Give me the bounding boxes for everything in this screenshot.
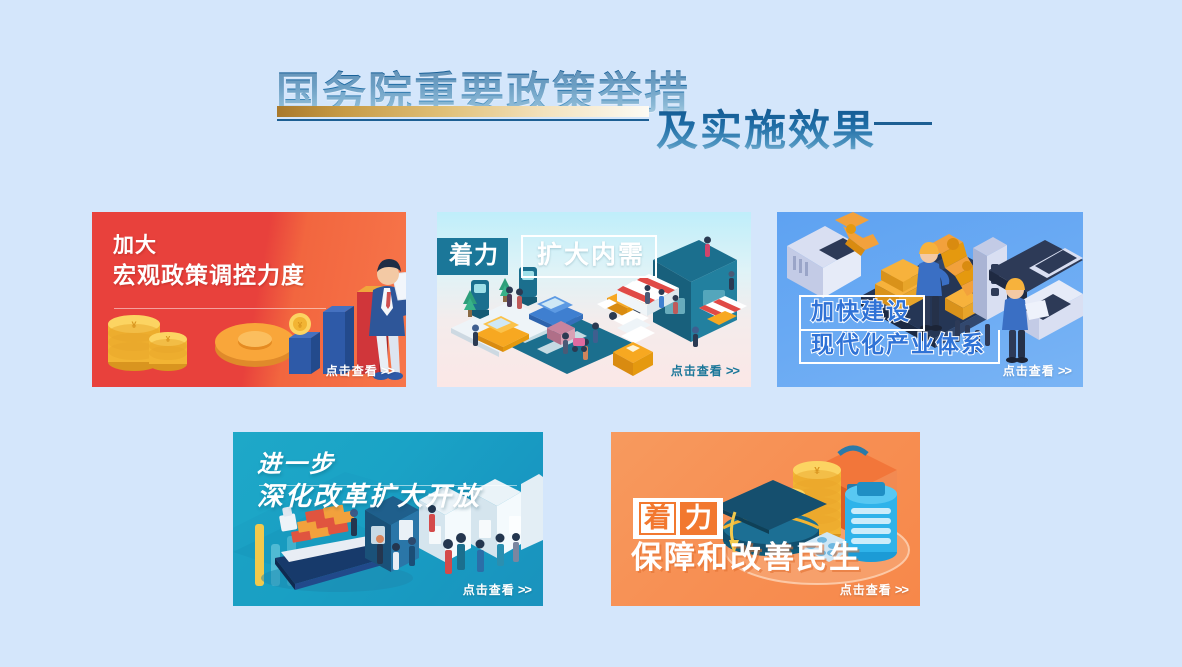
svg-text:¥: ¥: [131, 320, 136, 330]
card-modern-industry[interactable]: 加快建设 现代化产业体系 点击查看>>: [777, 212, 1083, 387]
card-industry-title-line-1: 加快建设: [811, 298, 911, 324]
card-macro-title: 加大 宏观政策调控力度: [113, 232, 305, 291]
card-demand-cta-label: 点击查看: [671, 364, 723, 378]
card-expand-demand[interactable]: 着力 扩大内需 点击查看>>: [437, 212, 751, 387]
card-livelihood-cta-label: 点击查看: [840, 583, 892, 597]
card-reform-title-rule: [259, 485, 517, 486]
title-gold-underline: [277, 106, 649, 117]
title-rule-line: [277, 119, 649, 121]
card-reform-cta[interactable]: 点击查看>>: [463, 581, 531, 598]
card-reform-title-line-1: 进一步: [257, 450, 481, 480]
card-macro-title-rule: [114, 308, 326, 309]
card-macro-policy[interactable]: ¥ ¥: [92, 212, 406, 387]
chevron-right-icon: >>: [518, 582, 531, 597]
svg-text:¥: ¥: [814, 466, 820, 477]
card-improve-livelihood[interactable]: ¥ ¥: [611, 432, 920, 606]
svg-text:¥: ¥: [298, 321, 303, 330]
card-demand-cta[interactable]: 点击查看>>: [671, 362, 739, 379]
chevron-right-icon: >>: [381, 363, 394, 378]
card-demand-title-box: 扩大内需: [521, 235, 657, 278]
card-livelihood-title-char-2: 力: [680, 502, 717, 535]
card-demand-title-line-2: 扩大内需: [537, 241, 645, 269]
card-macro-cta[interactable]: 点击查看>>: [326, 362, 394, 379]
card-deepen-reform[interactable]: 进一步 深化改革扩大开放 点击查看>>: [233, 432, 543, 606]
card-reform-title: 进一步 深化改革扩大开放: [257, 450, 481, 514]
card-macro-title-line-2: 宏观政策调控力度: [113, 260, 305, 291]
chevron-right-icon: >>: [1058, 363, 1071, 378]
card-livelihood-cta[interactable]: 点击查看>>: [840, 581, 908, 598]
page-header: 国务院重要政策举措 及实施效果: [0, 0, 1182, 185]
card-livelihood-title-badge: 着 力: [633, 498, 723, 539]
card-macro-title-line-1: 加大: [113, 232, 305, 260]
page-title-line-2: 及实施效果: [656, 97, 876, 158]
card-industry-title-box-2: 现代化产业体系: [799, 330, 1000, 364]
title-end-dash: [874, 122, 932, 125]
card-reform-cta-label: 点击查看: [463, 583, 515, 597]
svg-text:¥: ¥: [166, 335, 171, 344]
card-livelihood-title-line-2: 保障和改善民生: [631, 542, 862, 573]
card-macro-cta-label: 点击查看: [326, 364, 378, 378]
card-industry-title-line-2: 现代化产业体系: [811, 331, 986, 357]
card-demand-title-badge: 着力: [437, 238, 508, 275]
card-industry-cta-label: 点击查看: [1003, 364, 1055, 378]
card-industry-title-box-1: 加快建设: [799, 295, 925, 331]
card-industry-cta[interactable]: 点击查看>>: [1003, 362, 1071, 379]
chevron-right-icon: >>: [726, 363, 739, 378]
card-demand-title-line-1: 着力: [449, 242, 499, 269]
card-livelihood-title-char-1: 着: [639, 502, 676, 535]
chevron-right-icon: >>: [895, 582, 908, 597]
